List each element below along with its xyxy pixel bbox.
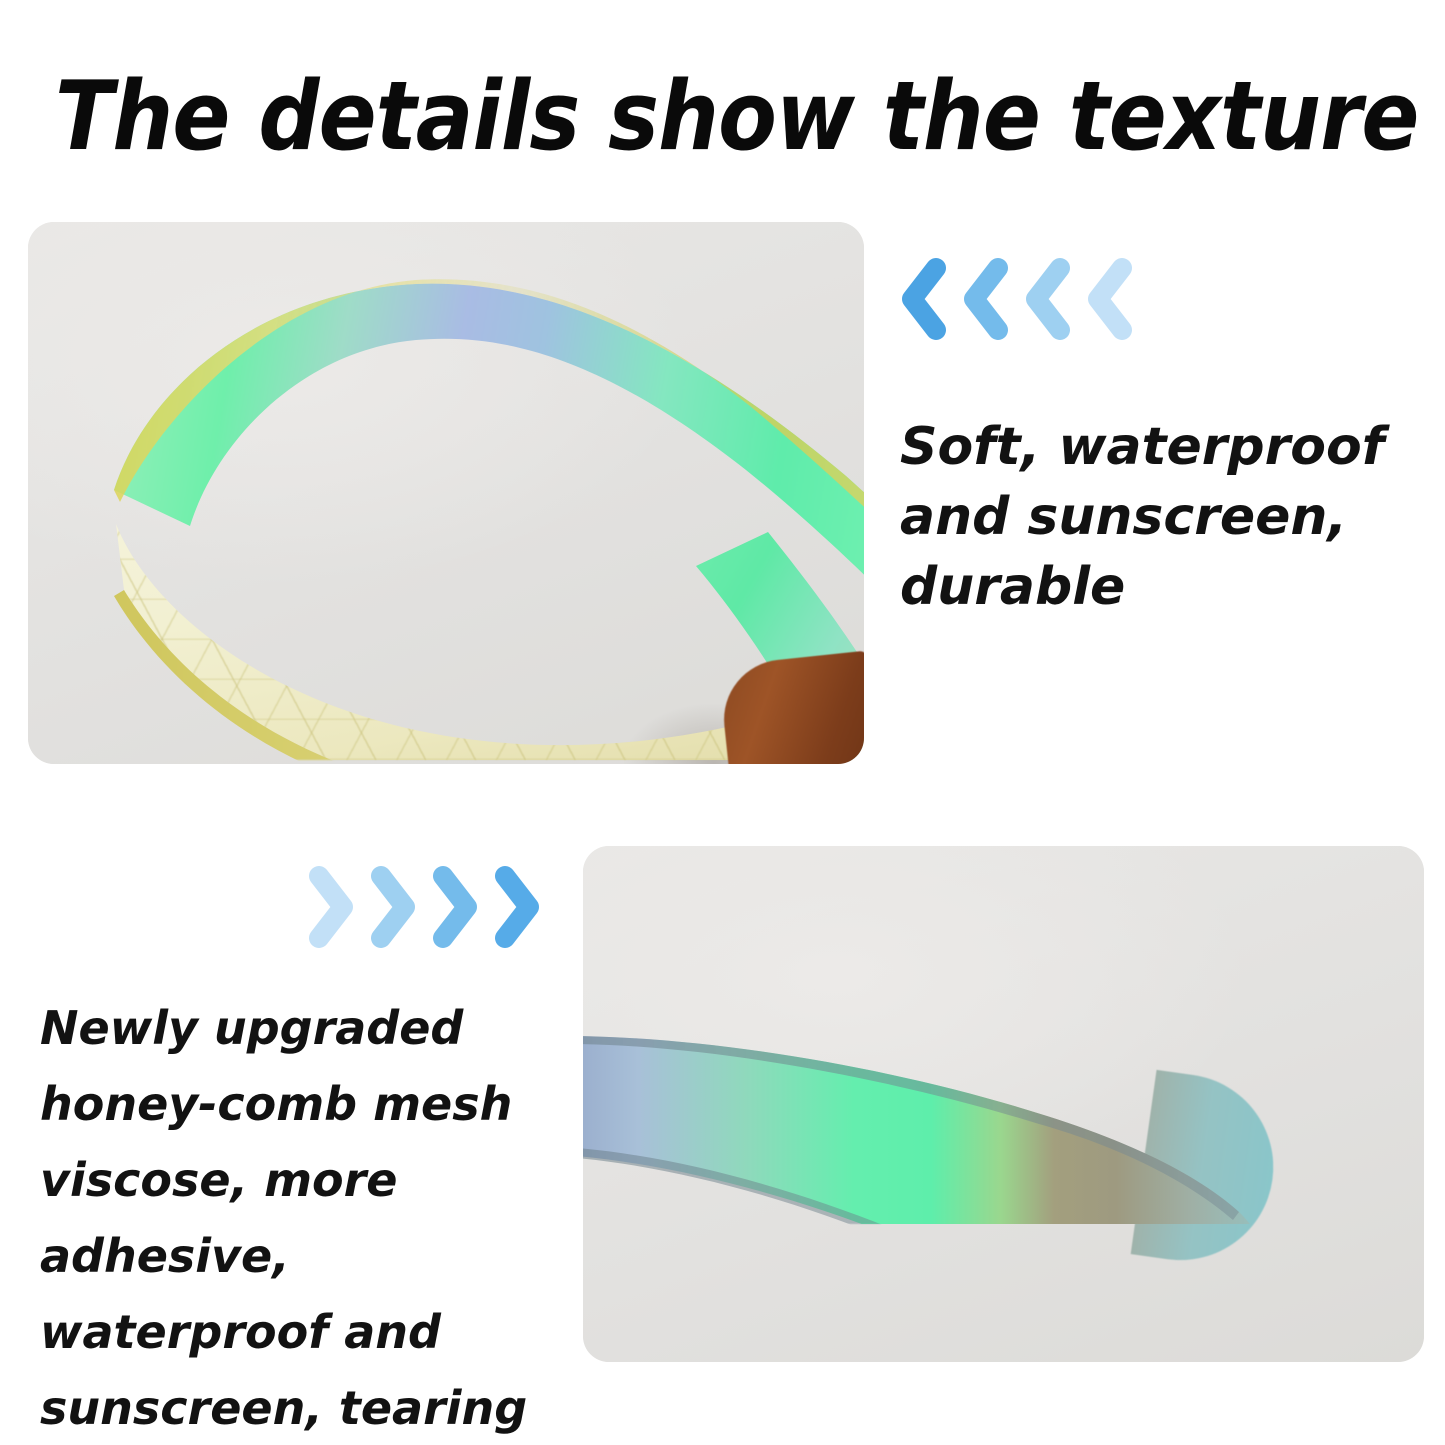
feature-text-honeycomb-mesh: Newly upgraded honey-comb mesh viscose, … — [40, 990, 575, 1445]
chevron-right-icon — [429, 864, 481, 950]
page-title: The details show the texture — [55, 62, 1261, 172]
chevron-group-left — [898, 256, 1136, 342]
chevron-left-icon — [898, 256, 950, 342]
chevron-group-right — [305, 864, 543, 950]
chevron-left-icon — [1084, 256, 1136, 342]
chevron-left-icon — [1022, 256, 1074, 342]
chevron-right-icon — [367, 864, 419, 950]
holographic-tape-strip-photo — [583, 846, 1424, 1362]
feature-text-soft-waterproof: Soft, waterproof and sunscreen, durable — [900, 412, 1420, 622]
chevron-right-icon — [305, 864, 357, 950]
chevron-right-icon — [491, 864, 543, 950]
holographic-tape-loop-photo — [28, 222, 864, 764]
chevron-left-icon — [960, 256, 1012, 342]
